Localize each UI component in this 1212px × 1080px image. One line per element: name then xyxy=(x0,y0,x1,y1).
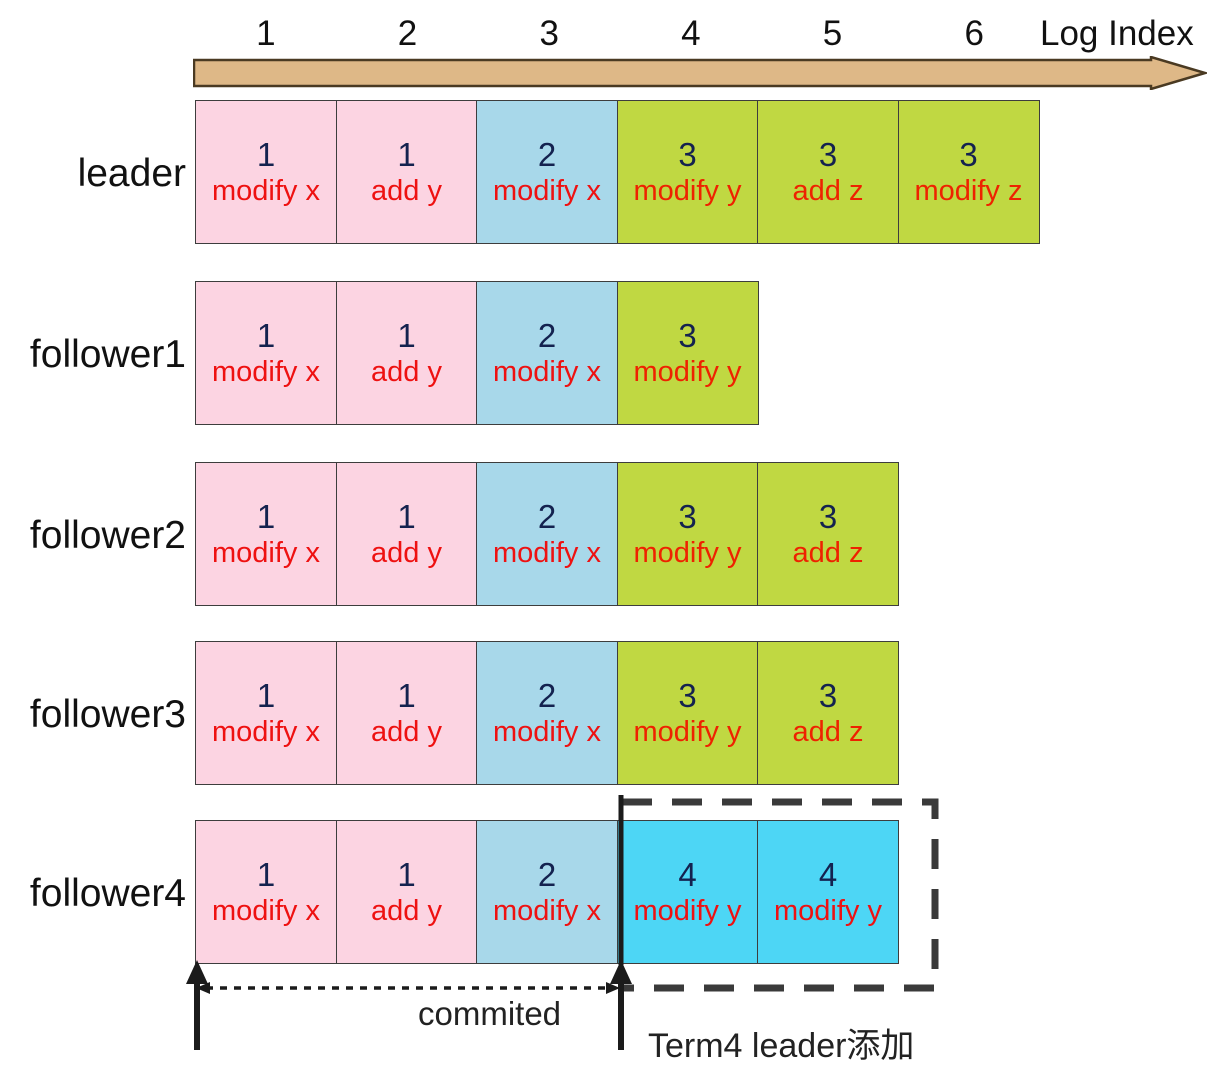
entry-command: modify y xyxy=(634,175,742,208)
entry-command: add z xyxy=(793,537,864,570)
log-entry[interactable]: 3 modify y xyxy=(617,641,759,785)
log-entry[interactable]: 3 modify y xyxy=(617,462,759,606)
log-entry[interactable]: 1 modify x xyxy=(195,641,337,785)
entry-term: 2 xyxy=(538,856,556,893)
log-entry[interactable]: 3 add z xyxy=(757,100,899,244)
log-entry[interactable]: 1 add y xyxy=(336,100,478,244)
entry-command: add y xyxy=(371,175,442,208)
term4-added-label: Term4 leader添加 xyxy=(648,1018,914,1067)
entry-command: modify x xyxy=(212,895,320,928)
entry-command: modify x xyxy=(493,175,601,208)
entry-term: 3 xyxy=(819,498,837,535)
axis-tick-5: 5 xyxy=(762,12,904,56)
entry-term: 2 xyxy=(538,317,556,354)
entry-command: modify x xyxy=(493,716,601,749)
log-entries-leader: 1 modify x 1 add y 2 modify x 3 modify y… xyxy=(195,100,1040,244)
row-label-follower4: follower4 xyxy=(0,872,186,916)
log-entry[interactable]: 3 modify y xyxy=(617,281,759,425)
entry-term: 3 xyxy=(819,136,837,173)
log-entries-follower2: 1 modify x 1 add y 2 modify x 3 modify y… xyxy=(195,462,899,606)
axis-tick-4: 4 xyxy=(620,12,762,56)
entry-term: 1 xyxy=(397,317,415,354)
log-entry[interactable]: 3 modify y xyxy=(617,100,759,244)
entry-term: 4 xyxy=(819,856,837,893)
entry-command: modify x xyxy=(212,716,320,749)
log-entry[interactable]: 2 modify x xyxy=(476,100,618,244)
commited-label: commited xyxy=(418,995,561,1033)
entry-command: modify x xyxy=(493,356,601,389)
log-entry[interactable]: 4 modify y xyxy=(617,820,759,964)
entry-term: 1 xyxy=(397,498,415,535)
log-entry[interactable]: 1 add y xyxy=(336,462,478,606)
entry-command: modify y xyxy=(634,716,742,749)
entry-command: modify z xyxy=(915,175,1023,208)
entry-term: 1 xyxy=(257,498,275,535)
axis-tick-1: 1 xyxy=(195,12,337,56)
entry-command: modify y xyxy=(774,895,882,928)
entry-term: 3 xyxy=(819,677,837,714)
log-entry[interactable]: 1 add y xyxy=(336,281,478,425)
entry-command: modify y xyxy=(634,356,742,389)
axis-tick-3: 3 xyxy=(478,12,620,56)
entry-term: 3 xyxy=(959,136,977,173)
log-entry[interactable]: 1 modify x xyxy=(195,462,337,606)
log-entries-follower4: 1 modify x 1 add y 2 modify x 4 modify y… xyxy=(195,820,899,964)
entry-command: modify x xyxy=(493,895,601,928)
log-entry[interactable]: 3 add z xyxy=(757,641,899,785)
entry-term: 1 xyxy=(257,856,275,893)
log-entry[interactable]: 1 modify x xyxy=(195,820,337,964)
log-entry[interactable]: 2 modify x xyxy=(476,641,618,785)
entry-term: 2 xyxy=(538,136,556,173)
entry-term: 1 xyxy=(397,677,415,714)
entry-command: add z xyxy=(793,175,864,208)
row-label-follower1: follower1 xyxy=(0,333,186,377)
entry-command: add y xyxy=(371,537,442,570)
log-entry[interactable]: 3 modify z xyxy=(898,100,1040,244)
axis-title: Log Index xyxy=(1040,12,1194,56)
entry-term: 2 xyxy=(538,498,556,535)
entry-term: 4 xyxy=(678,856,696,893)
row-label-follower2: follower2 xyxy=(0,514,186,558)
log-entries-follower3: 1 modify x 1 add y 2 modify x 3 modify y… xyxy=(195,641,899,785)
entry-term: 1 xyxy=(257,317,275,354)
log-index-scale: 1 2 3 4 5 6 xyxy=(195,12,1045,56)
entry-term: 3 xyxy=(678,498,696,535)
entry-command: modify y xyxy=(634,537,742,570)
entry-term: 3 xyxy=(678,677,696,714)
entry-term: 1 xyxy=(257,136,275,173)
log-entry[interactable]: 1 modify x xyxy=(195,281,337,425)
log-entry[interactable]: 4 modify y xyxy=(757,820,899,964)
entry-command: modify x xyxy=(212,537,320,570)
entry-command: modify x xyxy=(493,537,601,570)
log-entry[interactable]: 2 modify x xyxy=(476,462,618,606)
log-entry[interactable]: 1 modify x xyxy=(195,100,337,244)
entry-command: add y xyxy=(371,356,442,389)
axis-tick-6: 6 xyxy=(903,12,1045,56)
entry-command: add y xyxy=(371,716,442,749)
log-index-arrow-icon xyxy=(193,56,1207,90)
entry-term: 1 xyxy=(257,677,275,714)
entry-term: 3 xyxy=(678,317,696,354)
log-entry[interactable]: 1 add y xyxy=(336,820,478,964)
commit-start-marker xyxy=(186,960,208,1050)
log-entries-follower1: 1 modify x 1 add y 2 modify x 3 modify y xyxy=(195,281,759,425)
entry-command: add z xyxy=(793,716,864,749)
entry-term: 3 xyxy=(678,136,696,173)
entry-term: 1 xyxy=(397,856,415,893)
entry-command: modify x xyxy=(212,175,320,208)
axis-tick-2: 2 xyxy=(337,12,479,56)
entry-command: modify y xyxy=(634,895,742,928)
log-entry[interactable]: 3 add z xyxy=(757,462,899,606)
log-entry[interactable]: 2 modify x xyxy=(476,281,618,425)
entry-command: modify x xyxy=(212,356,320,389)
row-label-leader: leader xyxy=(0,152,186,196)
entry-term: 2 xyxy=(538,677,556,714)
diagram-canvas: 1 2 3 4 5 6 Log Index leader 1 modify x … xyxy=(0,0,1212,1080)
row-label-follower3: follower3 xyxy=(0,693,186,737)
entry-term: 1 xyxy=(397,136,415,173)
log-entry[interactable]: 1 add y xyxy=(336,641,478,785)
entry-command: add y xyxy=(371,895,442,928)
log-entry[interactable]: 2 modify x xyxy=(476,820,618,964)
commited-span-arrow xyxy=(196,982,620,994)
